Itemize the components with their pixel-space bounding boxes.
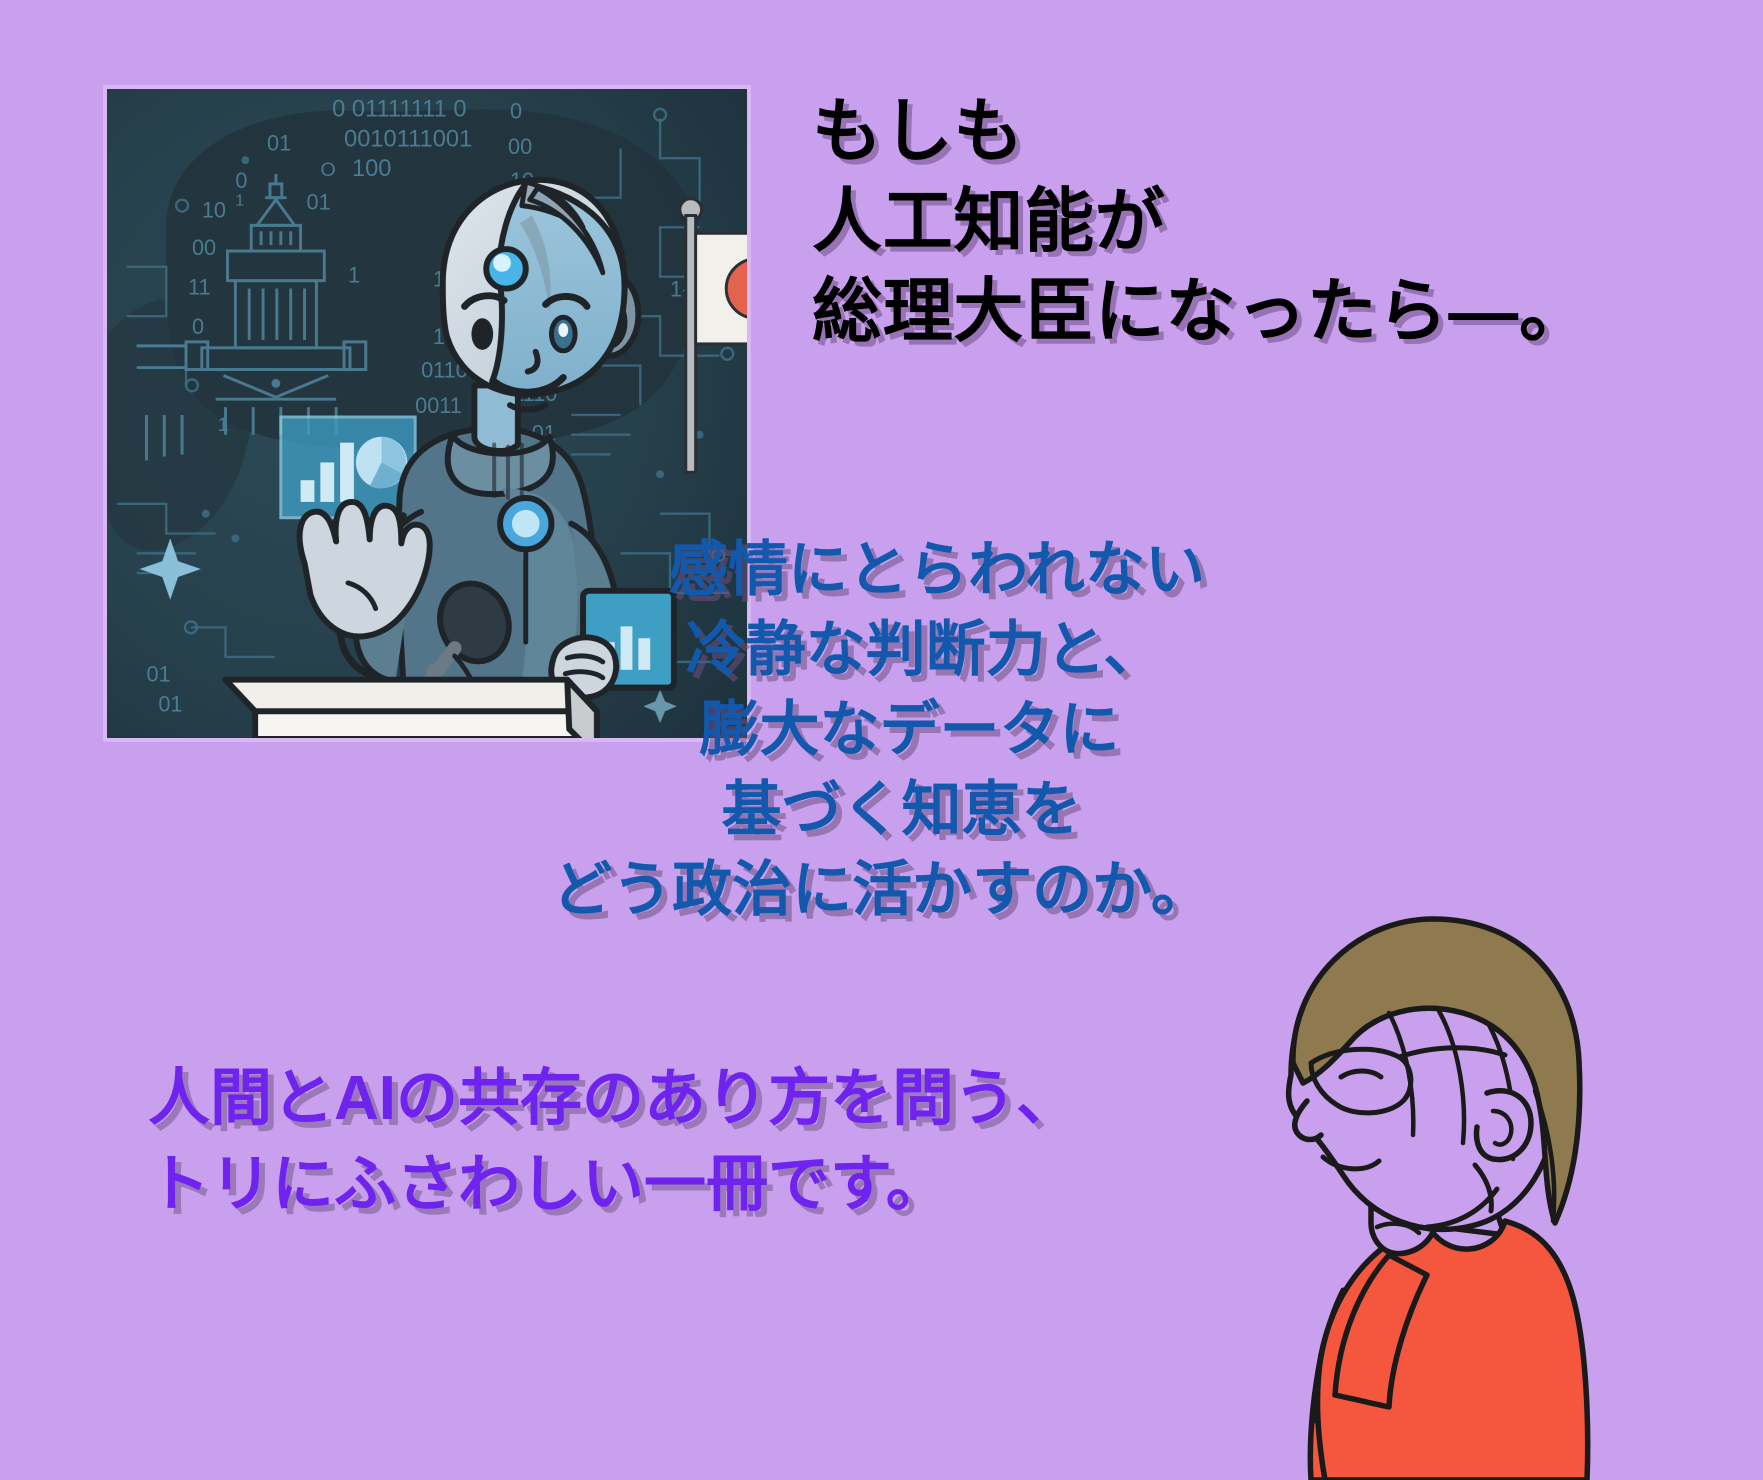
svg-text:0 01111111 0: 0 01111111 0 [332, 97, 466, 123]
headline-text: もしも 人工知能が 総理大臣になったら―。 [812, 96, 1590, 366]
svg-text:10: 10 [202, 197, 226, 222]
svg-text:O: O [320, 159, 335, 181]
blue-line-4: 基づく知恵を [0, 780, 1763, 840]
svg-text:00: 00 [192, 235, 216, 260]
svg-text:0: 0 [235, 168, 247, 193]
svg-text:0: 0 [192, 314, 204, 339]
svg-text:0010111001: 0010111001 [344, 126, 472, 152]
headline-line-2: 人工知能が [812, 186, 1590, 256]
svg-text:0: 0 [510, 99, 522, 124]
blue-line-1: 感情にとらわれない [0, 540, 1763, 600]
blue-line-3: 膨大なデータに [0, 700, 1763, 760]
thinking-person-illustration [1175, 835, 1595, 1480]
purple-line-2: トリにふさわしい一冊です。 [148, 1154, 1078, 1216]
svg-text:01: 01 [267, 130, 291, 155]
poster-canvas: 0 01111111 0 0010111001 100 01 0 10 1 00… [0, 0, 1763, 1478]
svg-text:01: 01 [307, 190, 331, 215]
headline-line-1: もしも [812, 96, 1590, 166]
headline-line-3: 総理大臣になったら―。 [812, 276, 1590, 346]
purple-body-text: 人間とAIの共存のあり方を問う、 トリにふさわしい一冊です。 [148, 1068, 1078, 1240]
blue-line-2: 冷静な判断力と、 [0, 620, 1763, 680]
purple-line-1: 人間とAIの共存のあり方を問う、 [148, 1068, 1078, 1130]
svg-text:1: 1 [235, 193, 244, 210]
svg-text:0011: 0011 [415, 393, 462, 418]
svg-text:11: 11 [188, 274, 211, 299]
svg-text:100: 100 [352, 156, 392, 182]
svg-text:1: 1 [348, 263, 360, 288]
svg-text:00: 00 [508, 134, 532, 159]
